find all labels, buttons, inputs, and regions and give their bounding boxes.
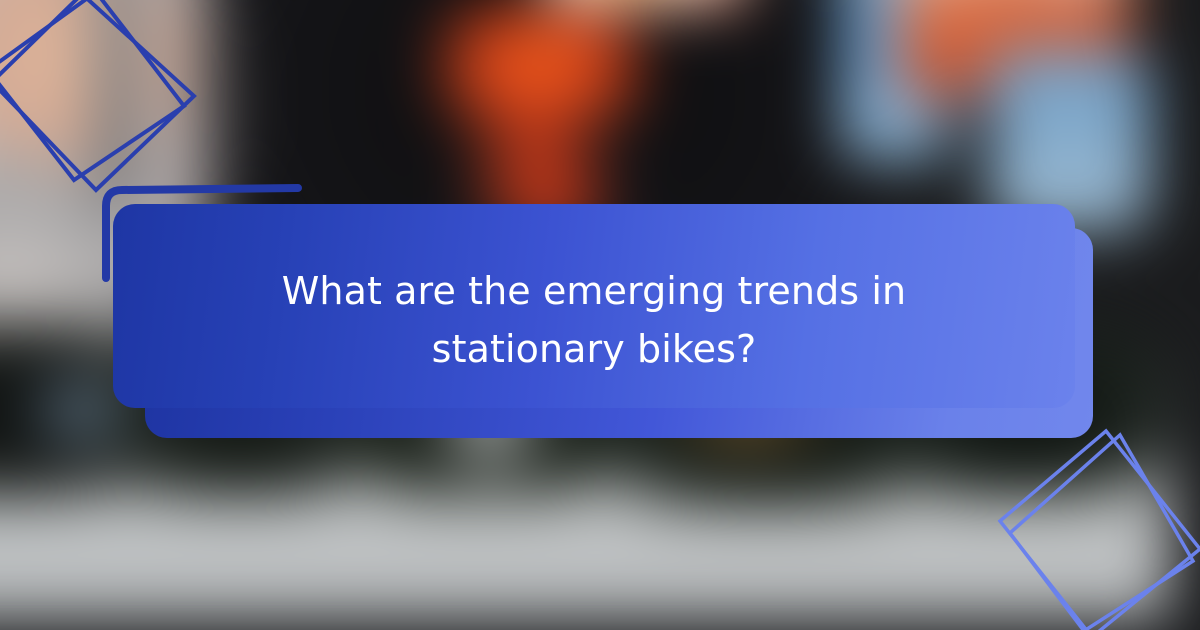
bg-shape-right-blue	[990, 50, 1150, 230]
page-title: What are the emerging trends in stationa…	[113, 204, 1075, 438]
question-card-canvas: What are the emerging trends in stationa…	[0, 0, 1200, 630]
